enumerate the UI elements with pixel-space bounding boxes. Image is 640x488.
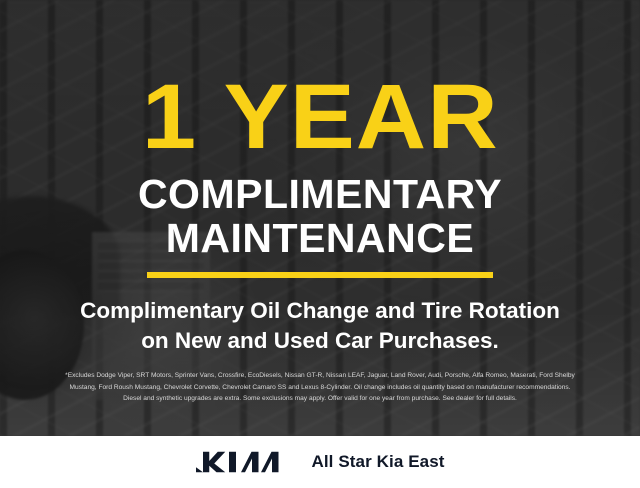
headline-line-complimentary: COMPLIMENTARY <box>138 171 502 217</box>
dealer-name: All Star Kia East <box>311 452 444 472</box>
yellow-divider-rule <box>147 272 493 278</box>
disclaimer-line-2: Mustang, Ford Roush Mustang, Chevrolet C… <box>8 382 632 393</box>
disclaimer-text: *Excludes Dodge Viper, SRT Motors, Sprin… <box>8 370 632 404</box>
offer-line-2: on New and Used Car Purchases. <box>80 326 560 356</box>
footer-bar: All Star Kia East <box>0 436 640 488</box>
disclaimer-line-3: Diesel and synthetic upgrades are extra.… <box>8 393 632 404</box>
headline-line-maintenance: MAINTENANCE <box>138 217 502 261</box>
disclaimer-line-1: *Excludes Dodge Viper, SRT Motors, Sprin… <box>8 370 632 381</box>
offer-description: Complimentary Oil Change and Tire Rotati… <box>80 296 560 355</box>
offer-line-1: Complimentary Oil Change and Tire Rotati… <box>80 298 560 323</box>
hero-section: 1 YEAR COMPLIMENTARY MAINTENANCE Complim… <box>0 0 640 436</box>
headline-subtitle: COMPLIMENTARY MAINTENANCE <box>138 173 502 261</box>
kia-logo-icon <box>195 449 287 475</box>
hero-content: 1 YEAR COMPLIMENTARY MAINTENANCE Complim… <box>0 0 640 436</box>
headline-year: 1 YEAR <box>142 78 499 157</box>
promotional-banner: 1 YEAR COMPLIMENTARY MAINTENANCE Complim… <box>0 0 640 488</box>
